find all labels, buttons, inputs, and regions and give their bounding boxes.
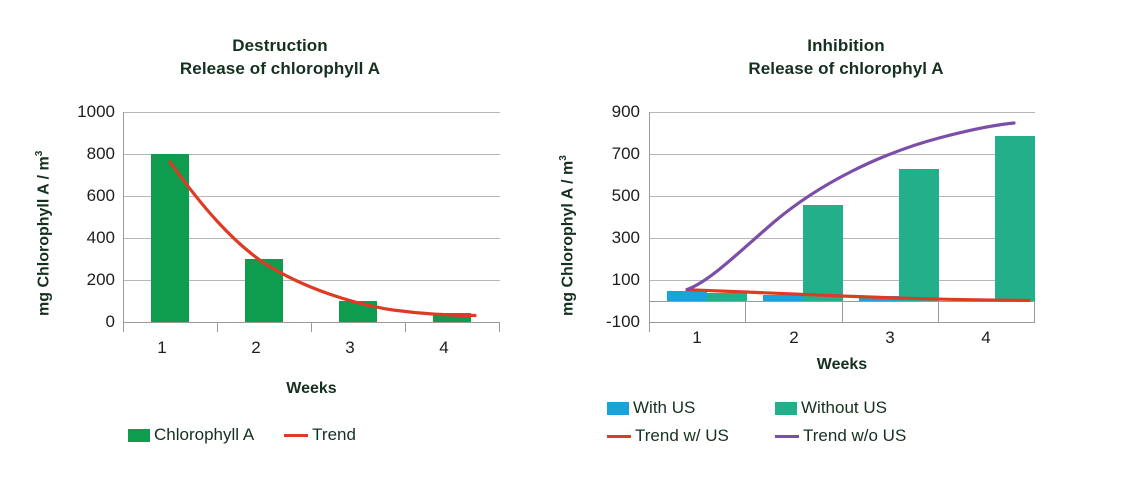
chart-title-inhibition: Inhibition Release of chlorophyl A [530, 34, 1122, 80]
x-tick-label-3: 3 [868, 328, 912, 348]
x-tick-0 [649, 322, 650, 332]
two-chart-figure: Destruction Release of chlorophyll A mg … [0, 0, 1122, 486]
legend-label: Trend w/ US [635, 426, 729, 446]
y-tick-label-900: 900 [568, 102, 640, 122]
y-tick-label-neg100: -100 [568, 312, 640, 332]
legend-swatch-box-icon [128, 429, 150, 442]
y-tick-label-600: 600 [43, 186, 115, 206]
x-tick-label-4: 4 [964, 328, 1008, 348]
legend-label: Trend w/o US [803, 426, 906, 446]
legend-label: Without US [801, 398, 887, 418]
legend-swatch-box-icon [775, 402, 797, 415]
y-tick-label-200: 200 [43, 270, 115, 290]
legend-swatch-box-icon [607, 402, 629, 415]
x-tick-label-2: 2 [772, 328, 816, 348]
chart-title-line2: Release of chlorophyl A [570, 57, 1122, 80]
legend-label: With US [633, 398, 695, 418]
y-tick-label-500: 500 [568, 186, 640, 206]
legend-item-without-us[interactable]: Without US [775, 398, 887, 418]
trend-with-us-path [687, 290, 1029, 301]
chart-panel-destruction: Destruction Release of chlorophyll A mg … [0, 0, 530, 486]
legend-inhibition: With US Without US Trend w/ US Trend w/o… [607, 398, 906, 446]
chart-title-line1: Inhibition [570, 34, 1122, 57]
plot-area-destruction [123, 112, 500, 322]
chart-title-line2: Release of chlorophyll A [30, 57, 530, 80]
plot-area-inhibition [649, 112, 1035, 322]
x-tick-label-1: 1 [140, 338, 184, 358]
trend-without-us-path [687, 123, 1014, 290]
x-tick-2 [311, 322, 312, 332]
trend-curves-right [649, 112, 1035, 322]
legend-swatch-line-icon [284, 434, 308, 437]
legend-swatch-line-icon [775, 435, 799, 438]
x-tick-label-3: 3 [328, 338, 372, 358]
x-tick-label-4: 4 [422, 338, 466, 358]
y-tick-label-400: 400 [43, 228, 115, 248]
x-axis-title-right: Weeks [649, 356, 1035, 374]
y-tick-label-0: 0 [43, 312, 115, 332]
y-tick-label-100: 100 [568, 270, 640, 290]
x-tick-0 [123, 322, 124, 332]
legend-item-trend-without-us[interactable]: Trend w/o US [775, 426, 906, 446]
y-tick-label-300: 300 [568, 228, 640, 248]
chart-title-line1: Destruction [30, 34, 530, 57]
legend-item-trend[interactable]: Trend [284, 425, 356, 445]
x-tick-label-2: 2 [234, 338, 278, 358]
x-axis-line-right [649, 322, 1035, 323]
legend-item-with-us[interactable]: With US [607, 398, 775, 418]
legend-label: Chlorophyll A [154, 425, 254, 445]
y-tick-label-700: 700 [568, 144, 640, 164]
legend-swatch-line-icon [607, 435, 631, 438]
trend-curve-left [123, 112, 500, 322]
x-axis-title-left: Weeks [123, 380, 500, 398]
legend-label: Trend [312, 425, 356, 445]
x-tick-3 [405, 322, 406, 332]
legend-item-chlorophyll-a[interactable]: Chlorophyll A [128, 425, 254, 445]
legend-destruction: Chlorophyll A Trend [128, 425, 356, 445]
y-tick-label-800: 800 [43, 144, 115, 164]
y-tick-label-1000: 1000 [43, 102, 115, 122]
x-tick-label-1: 1 [675, 328, 719, 348]
chart-title-destruction: Destruction Release of chlorophyll A [0, 34, 530, 80]
chart-panel-inhibition: Inhibition Release of chlorophyl A mg Ch… [530, 0, 1122, 486]
legend-item-trend-with-us[interactable]: Trend w/ US [607, 426, 775, 446]
x-tick-1 [217, 322, 218, 332]
x-tick-4 [499, 322, 500, 332]
